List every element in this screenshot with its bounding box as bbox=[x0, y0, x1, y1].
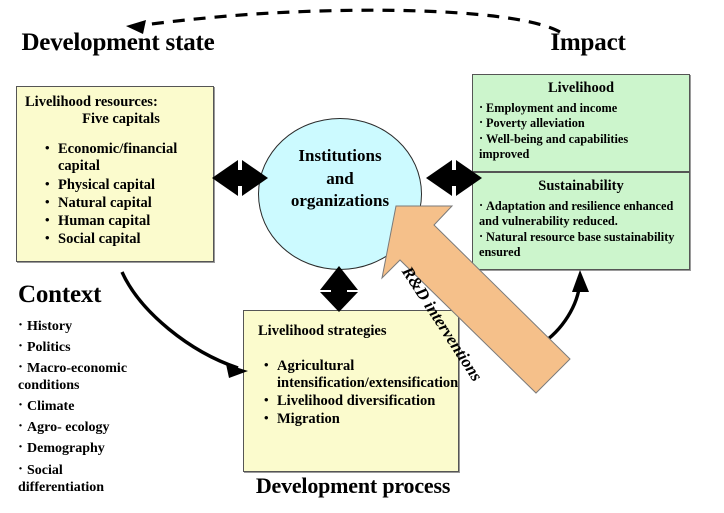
list-item: Macro-economic bbox=[18, 360, 168, 377]
list-item: Agro- ecology bbox=[18, 419, 168, 436]
strategies-list: Agricultural intensification/extensifica… bbox=[262, 358, 452, 428]
list-item: Natural capital bbox=[43, 195, 207, 212]
circle-line-3: organizations bbox=[258, 190, 422, 213]
sustainability-list: Adaptation and resilience enhanced and v… bbox=[479, 199, 683, 261]
circle-line-1: Institutions bbox=[258, 145, 422, 168]
diagram-canvas: Development state Impact Context Develop… bbox=[0, 0, 724, 513]
list-item: Agricultural intensification/extensifica… bbox=[262, 358, 452, 392]
process-to-impact-arrowhead-icon bbox=[572, 270, 589, 292]
sustainability-title: Sustainability bbox=[479, 178, 683, 195]
list-item: Social bbox=[18, 462, 168, 479]
list-item: Natural resource base sustainability bbox=[479, 230, 683, 245]
list-item-continuation: improved bbox=[479, 147, 683, 162]
list-item-continuation: and vulnerability reduced. bbox=[479, 214, 683, 229]
center-vertical-double-arrow-icon bbox=[320, 266, 358, 312]
list-item: Politics bbox=[18, 339, 168, 356]
list-item: Human capital bbox=[43, 213, 207, 230]
strategies-title: Livelihood strategies bbox=[258, 323, 452, 340]
livelihood-list: Employment and income Poverty alleviatio… bbox=[479, 101, 683, 163]
livelihood-strategies-box: Livelihood strategies Agricultural inten… bbox=[243, 310, 459, 472]
list-item: Employment and income bbox=[479, 101, 683, 116]
resources-title-line2: Five capitals bbox=[25, 111, 207, 128]
resources-list: Economic/financial capital Physical capi… bbox=[43, 141, 207, 248]
institutions-circle-label: Institutions and organizations bbox=[258, 145, 422, 213]
list-item: Physical capital bbox=[43, 177, 207, 194]
heading-context: Context bbox=[18, 282, 148, 308]
list-item-continuation: ensured bbox=[479, 245, 683, 260]
heading-impact: Impact bbox=[478, 30, 698, 56]
heading-development-state: Development state bbox=[18, 30, 218, 56]
list-item: Migration bbox=[262, 411, 452, 428]
list-item: Demography bbox=[18, 440, 168, 457]
resources-title-line1: Livelihood resources: bbox=[25, 94, 207, 111]
list-item: Climate bbox=[18, 398, 168, 415]
list-item: Well-being and capabilities bbox=[479, 132, 683, 147]
list-item-continuation: conditions bbox=[18, 377, 168, 394]
impact-sustainability-box: Sustainability Adaptation and resilience… bbox=[472, 172, 690, 270]
heading-development-process: Development process bbox=[243, 474, 463, 497]
list-item: Economic/financial capital bbox=[43, 141, 207, 175]
context-list: History Politics Macro-economic conditio… bbox=[18, 318, 168, 500]
list-item: Poverty alleviation bbox=[479, 116, 683, 131]
livelihood-resources-box: Livelihood resources: Five capitals Econ… bbox=[16, 86, 214, 262]
impact-livelihood-box: Livelihood Employment and income Poverty… bbox=[472, 74, 690, 172]
list-item: Livelihood diversification bbox=[262, 393, 452, 410]
list-item: History bbox=[18, 318, 168, 335]
list-item: Adaptation and resilience enhanced bbox=[479, 199, 683, 214]
list-item-continuation: differentiation bbox=[18, 479, 168, 496]
list-item: Social capital bbox=[43, 231, 207, 248]
process-to-impact-line bbox=[540, 282, 580, 345]
livelihood-title: Livelihood bbox=[479, 80, 683, 97]
circle-line-2: and bbox=[258, 168, 422, 191]
